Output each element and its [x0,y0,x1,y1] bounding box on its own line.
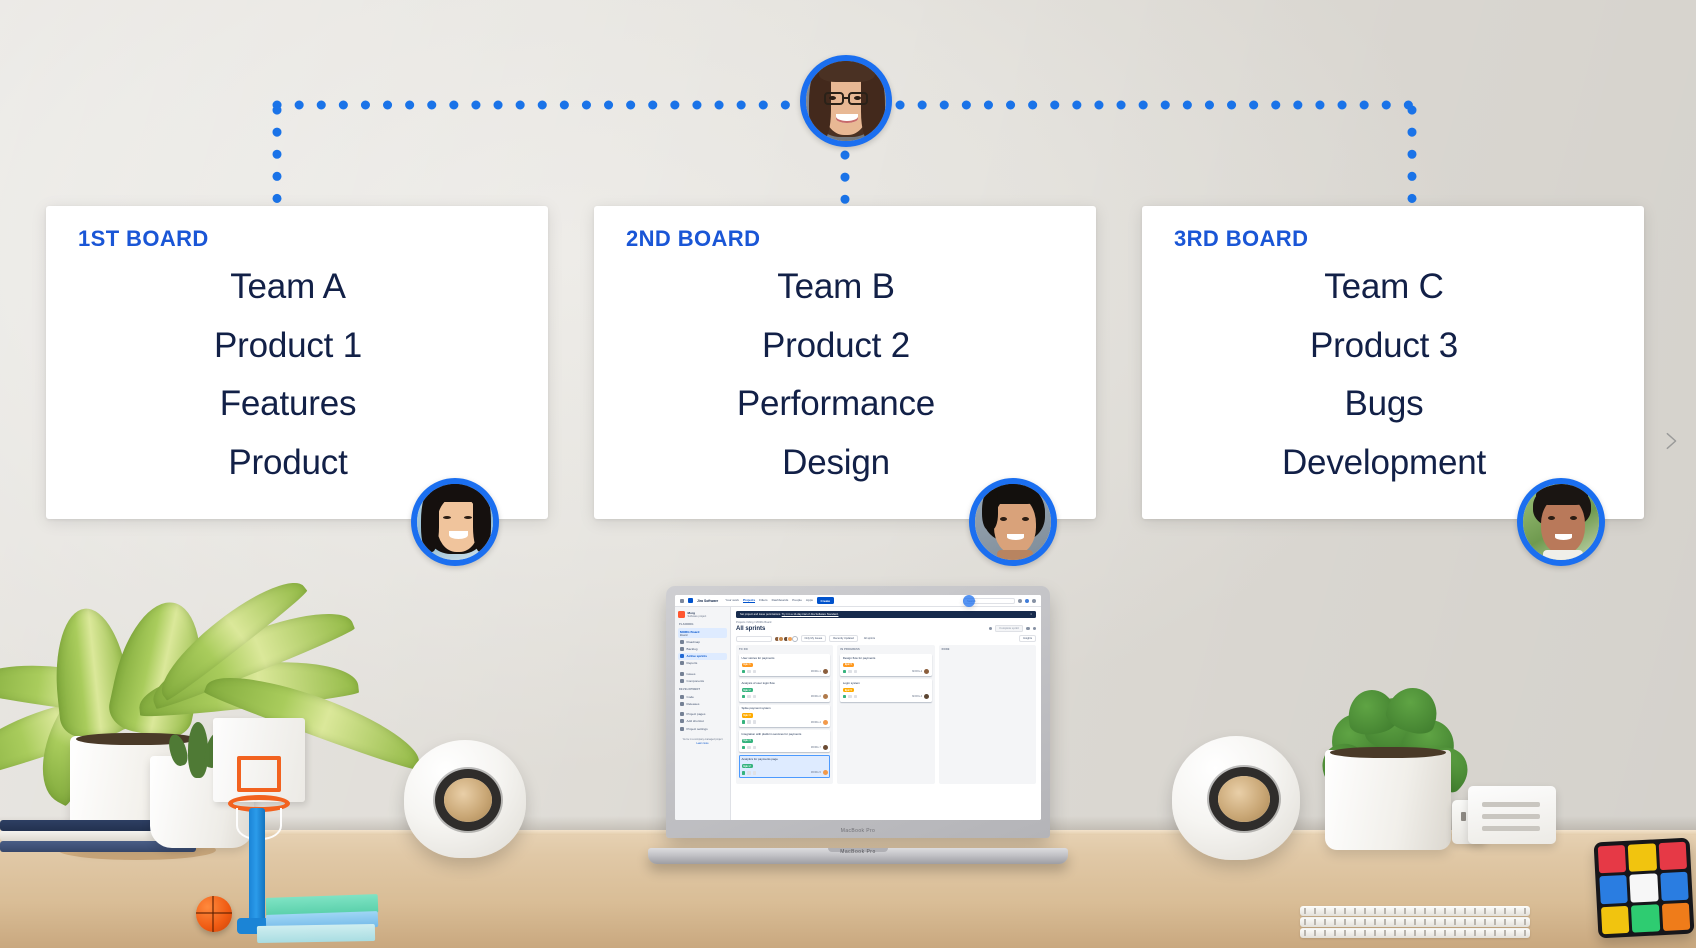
board-card-3[interactable]: 3RD BOARD Team C Product 3 Bugs Developm… [1142,206,1644,519]
card-1-lines: Team A Product 1 Features Product [46,261,530,489]
card-3-lines: Team C Product 3 Bugs Development [1142,261,1626,489]
card-2-line-1: Team B [777,261,894,314]
board-card-2[interactable]: 2ND BOARD Team B Product 2 Performance D… [594,206,1096,519]
card-1-line-3: Features [220,378,357,431]
card-1-line-1: Team A [230,261,346,314]
card-3-line-1: Team C [1324,261,1443,314]
card-3-line-4: Development [1282,437,1486,490]
card-3-kicker: 3RD BOARD [1174,226,1308,252]
avatar-lead[interactable] [800,55,892,147]
card-1-line-4: Product [228,437,347,490]
card-2-line-2: Product 2 [762,320,910,373]
card-3-line-3: Bugs [1345,378,1424,431]
card-2-line-3: Performance [737,378,935,431]
card-1-kicker: 1ST BOARD [78,226,209,252]
avatar-team-c[interactable] [1517,478,1605,566]
card-2-kicker: 2ND BOARD [626,226,760,252]
board-card-1[interactable]: 1ST BOARD Team A Product 1 Features Prod… [46,206,548,519]
card-2-lines: Team B Product 2 Performance Design [594,261,1078,489]
avatar-team-b[interactable] [969,478,1057,566]
card-3-line-2: Product 3 [1310,320,1458,373]
chevron-right-icon[interactable] [1660,430,1682,452]
card-1-line-2: Product 1 [214,320,362,373]
card-2-line-4: Design [782,437,890,490]
avatar-team-a[interactable] [411,478,499,566]
